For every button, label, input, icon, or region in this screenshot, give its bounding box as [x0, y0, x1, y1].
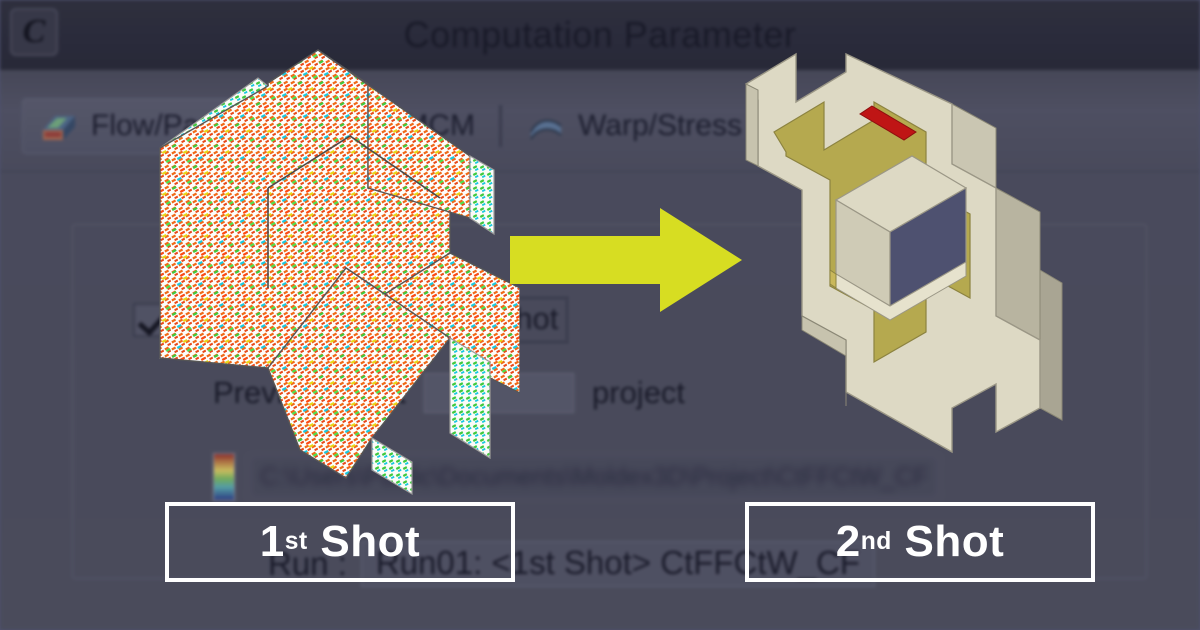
project-path-input[interactable]: C:\Users\Public\Documents\Moldex3D\Proje… [249, 455, 939, 499]
tab-separator [324, 105, 327, 147]
run-row: Run : Run01: <1st Shot> CtFFCtW_CF [268, 541, 875, 587]
previous-shot-select[interactable] [424, 373, 574, 413]
previous-shot-suffix-label: project [592, 375, 685, 411]
link-previous-shot-row[interactable]: Link with the previous shot [133, 297, 568, 343]
tab-separator [499, 105, 502, 147]
tab-mcm[interactable]: MCM [335, 98, 491, 154]
application-window: C Computation Parameter Flow/Pack [0, 0, 1200, 630]
link-settings-groupbox: Link with the previous shot Previous Sho… [72, 224, 1147, 579]
tab-strip: Flow/Pack/Cool MCM [0, 70, 1200, 172]
colorbar-icon [213, 453, 235, 501]
project-path-row: C:\Users\Public\Documents\Moldex3D\Proje… [213, 453, 939, 501]
link-previous-shot-label: Link with the previous shot [183, 297, 568, 343]
ve-optics-icon [793, 108, 833, 144]
warp-stress-icon [526, 108, 566, 144]
previous-shot-row: Previous Shot project [213, 373, 685, 413]
link-previous-shot-checkbox[interactable] [133, 303, 167, 337]
flow-pack-cool-icon [39, 108, 79, 144]
tab-label-flow: Flow/Pack/Cool [91, 109, 299, 143]
run-value[interactable]: Run01: <1st Shot> CtFFCtW_CF [361, 541, 875, 587]
tab-label-warp: Warp/Stress [578, 109, 742, 143]
tab-label-ve: VE/Optics [845, 109, 978, 143]
tab-flow-pack-cool[interactable]: Flow/Pack/Cool [22, 98, 316, 154]
tab-warp-stress[interactable]: Warp/Stress [510, 98, 758, 154]
run-label: Run : [268, 545, 347, 583]
previous-shot-prefix-label: Previous Shot [213, 375, 406, 411]
mcm-stamp-icon [351, 108, 391, 144]
tab-separator [766, 105, 769, 147]
title-bar: C Computation Parameter [0, 0, 1200, 70]
screenshot-root: C Computation Parameter Flow/Pack [0, 0, 1200, 630]
tab-label-mcm: MCM [403, 109, 475, 143]
window-title: Computation Parameter [0, 0, 1200, 70]
tab-ve-optics[interactable]: VE/Optics [777, 98, 994, 154]
dialog-body: Link with the previous shot Previous Sho… [0, 172, 1200, 630]
